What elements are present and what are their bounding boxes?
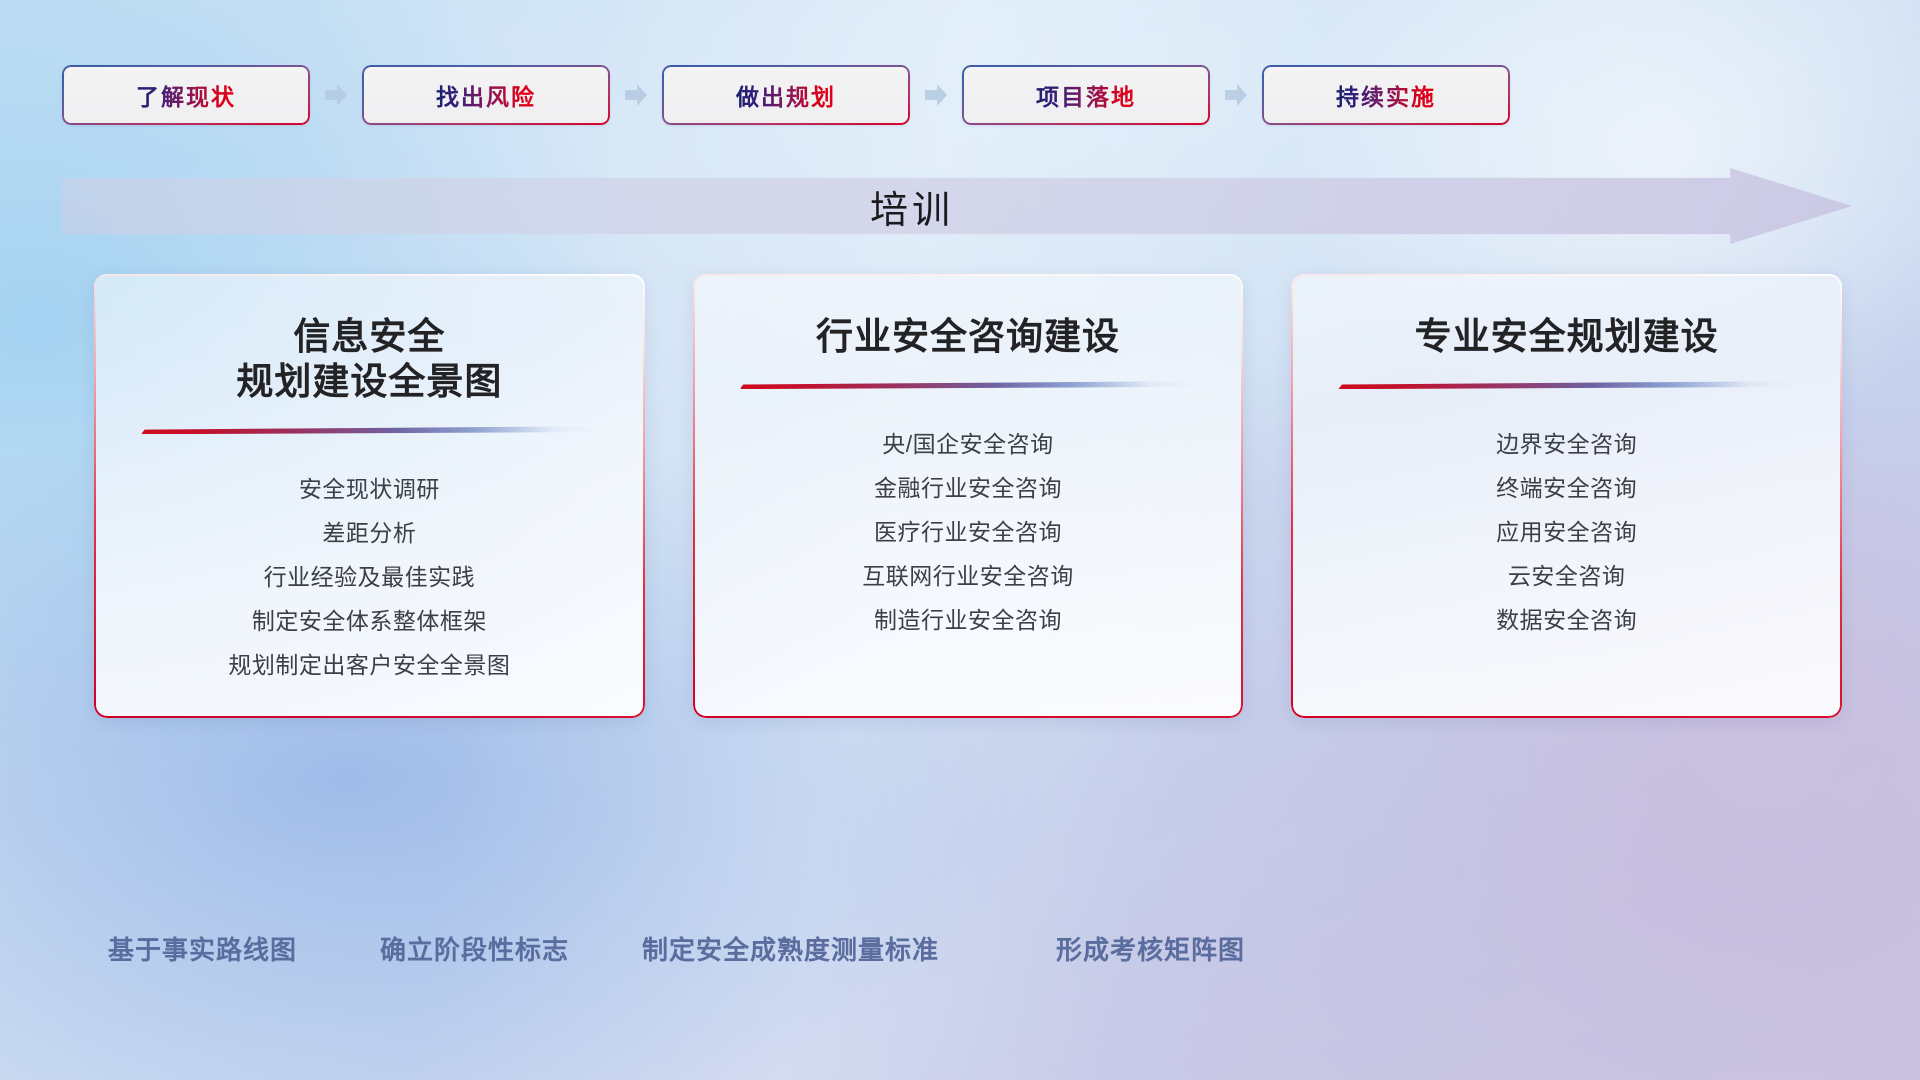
card-2[interactable]: 行业安全咨询建设 央/国企安全咨询 金融行业安全咨询 医疗行业安全咨询 互联网行…	[693, 274, 1244, 718]
list-item: 制造行业安全咨询	[874, 599, 1062, 643]
footer-label-4: 形成考核矩阵图	[1056, 930, 1245, 967]
card-2-divider	[740, 381, 1197, 389]
training-banner: 培训	[62, 168, 1852, 244]
card-3[interactable]: 专业安全规划建设 边界安全咨询 终端安全咨询 应用安全咨询 云安全咨询 数据安全…	[1291, 274, 1842, 718]
list-item: 行业经验及最佳实践	[264, 556, 476, 600]
card-1[interactable]: 信息安全 规划建设全景图 安全现状调研 差距分析 行业经验及最佳实践 制定安全体…	[94, 274, 645, 718]
step-box-5[interactable]: 持续实施	[1262, 65, 1510, 125]
card-1-list: 安全现状调研 差距分析 行业经验及最佳实践 制定安全体系整体框架 规划制定出客户…	[228, 468, 510, 688]
step-box-3[interactable]: 做出规划	[662, 65, 910, 125]
footer-label-1: 基于事实路线图	[108, 930, 297, 967]
card-2-title: 行业安全咨询建设	[816, 314, 1120, 359]
list-item: 央/国企安全咨询	[882, 423, 1053, 467]
step-label-2: 找出风险	[436, 78, 536, 112]
list-item: 金融行业安全咨询	[874, 467, 1062, 511]
step-label-3: 做出规划	[736, 78, 836, 112]
step-box-4[interactable]: 项目落地	[962, 65, 1210, 125]
step-label-4: 项目落地	[1036, 78, 1136, 112]
list-item: 互联网行业安全咨询	[862, 555, 1074, 599]
list-item: 制定安全体系整体框架	[252, 600, 487, 644]
list-item: 数据安全咨询	[1496, 599, 1637, 643]
right-arrow-icon-2	[625, 84, 647, 106]
list-item: 终端安全咨询	[1496, 467, 1637, 511]
list-item: 医疗行业安全咨询	[874, 511, 1062, 555]
right-arrow-icon-4	[1225, 84, 1247, 106]
step-label-1: 了解现状	[136, 78, 236, 112]
step-label-5: 持续实施	[1336, 78, 1436, 112]
card-1-divider	[141, 426, 598, 434]
list-item: 云安全咨询	[1508, 555, 1626, 599]
card-3-title: 专业安全规划建设	[1415, 314, 1719, 359]
footer-label-2: 确立阶段性标志	[380, 930, 569, 967]
footer-label-3: 制定安全成熟度测量标准	[642, 930, 939, 967]
card-1-title: 信息安全 规划建设全景图	[236, 314, 502, 404]
list-item: 差距分析	[322, 512, 416, 556]
list-item: 安全现状调研	[299, 468, 440, 512]
card-row: 信息安全 规划建设全景图 安全现状调研 差距分析 行业经验及最佳实践 制定安全体…	[94, 274, 1842, 718]
footer-label-row: 基于事实路线图 确立阶段性标志 制定安全成熟度测量标准 形成考核矩阵图	[0, 930, 1920, 976]
training-banner-title: 培训	[870, 179, 954, 234]
list-item: 边界安全咨询	[1496, 423, 1637, 467]
card-3-list: 边界安全咨询 终端安全咨询 应用安全咨询 云安全咨询 数据安全咨询	[1496, 423, 1637, 643]
card-3-divider	[1338, 381, 1795, 389]
list-item: 应用安全咨询	[1496, 511, 1637, 555]
right-arrow-icon-1	[325, 84, 347, 106]
list-item: 规划制定出客户安全全景图	[228, 644, 510, 688]
right-arrow-icon-3	[925, 84, 947, 106]
process-step-row: 了解现状 找出风险 做出规划 项目落地 持续实施	[62, 64, 1858, 126]
step-box-1[interactable]: 了解现状	[62, 65, 310, 125]
step-box-2[interactable]: 找出风险	[362, 65, 610, 125]
card-2-list: 央/国企安全咨询 金融行业安全咨询 医疗行业安全咨询 互联网行业安全咨询 制造行…	[862, 423, 1074, 643]
